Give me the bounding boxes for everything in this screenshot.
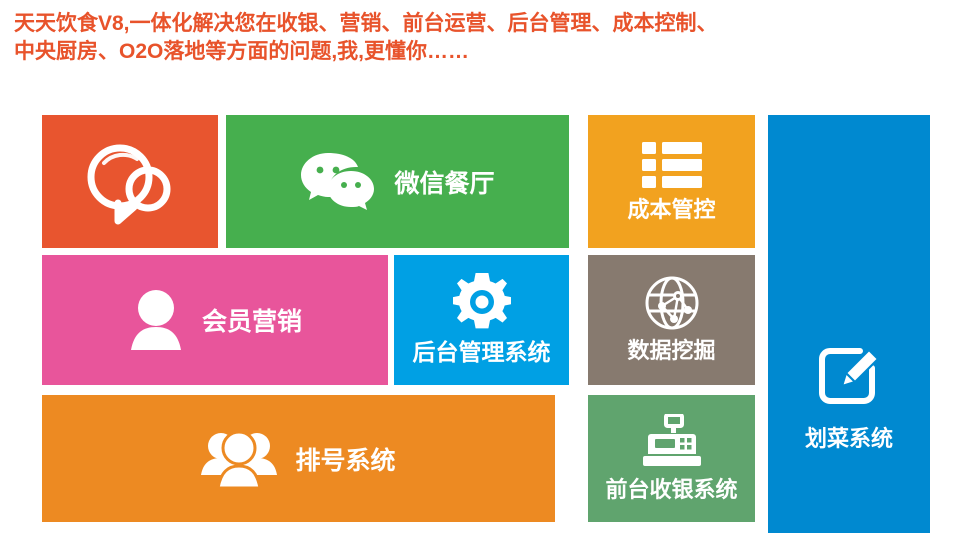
- tile-label-wechat-restaurant: 微信餐厅: [394, 164, 494, 200]
- tile-label-dish-dispatch: 划菜系统: [805, 421, 893, 453]
- tile-label-backend-management: 后台管理系统: [413, 333, 551, 367]
- tile-pos-system[interactable]: 前台收银系统: [588, 395, 755, 522]
- headline-line-1: 天天饮食V8,一体化解决您在收银、营销、前台运营、后台管理、成本控制、: [14, 10, 914, 38]
- tile-dish-dispatch[interactable]: 划菜系统: [768, 115, 930, 533]
- gear-icon: [453, 273, 511, 331]
- tile-label-member-marketing: 会员营销: [202, 302, 302, 338]
- pencil-square-icon: [816, 343, 882, 409]
- tile-queue-system[interactable]: 排号系统: [42, 395, 555, 522]
- person-icon: [128, 289, 184, 351]
- tile-label-queue-system: 排号系统: [295, 441, 395, 477]
- people-group-icon: [201, 428, 277, 490]
- tile-cost-control[interactable]: 成本管控: [588, 115, 755, 248]
- wechat-icon: [300, 151, 376, 213]
- tile-label-data-mining: 数据挖掘: [627, 333, 715, 365]
- headline-line-2: 中央厨房、O2O落地等方面的问题,我,更懂你……: [14, 38, 914, 66]
- speech-bubble-cloud-icon: [82, 137, 178, 227]
- tile-member-marketing[interactable]: 会员营销: [42, 255, 388, 385]
- cash-register-icon: [641, 414, 703, 470]
- tile-label-cost-control: 成本管控: [627, 192, 715, 224]
- tile-wechat-restaurant[interactable]: 微信餐厅: [226, 115, 569, 248]
- tile-data-mining[interactable]: 数据挖掘: [588, 255, 755, 385]
- list-blocks-icon: [642, 140, 702, 190]
- page-headline: 天天饮食V8,一体化解决您在收银、营销、前台运营、后台管理、成本控制、 中央厨房…: [14, 10, 914, 66]
- tile-backend-management[interactable]: 后台管理系统: [394, 255, 569, 385]
- tile-wechat-logo[interactable]: [42, 115, 218, 248]
- globe-network-icon: [644, 275, 700, 331]
- tile-label-pos-system: 前台收银系统: [605, 472, 737, 504]
